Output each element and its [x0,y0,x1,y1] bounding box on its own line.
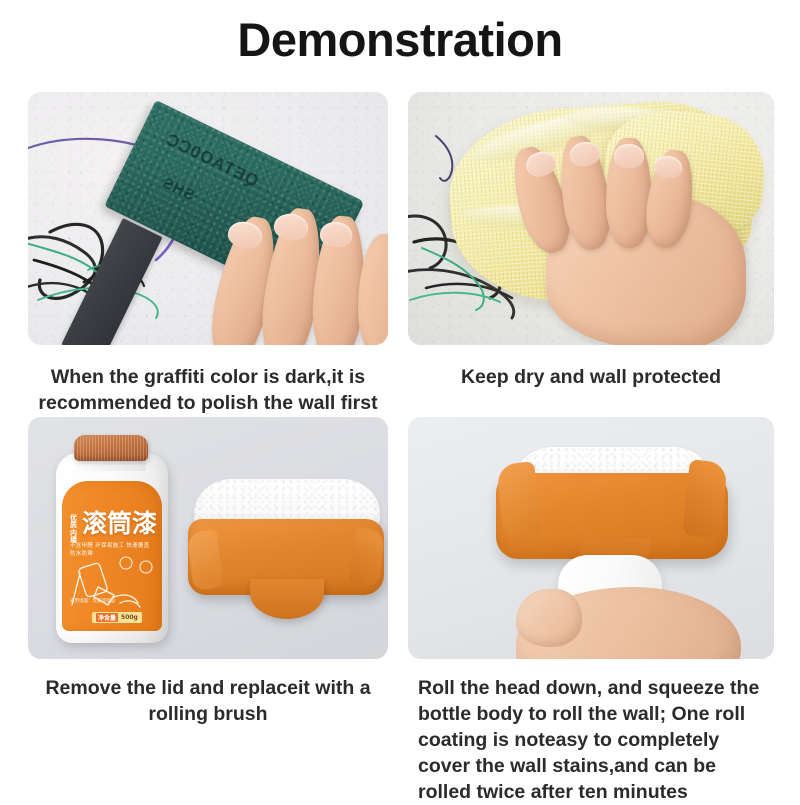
roller-brush-head [188,479,384,639]
caption-keep-dry: Keep dry and wall protected [408,365,774,391]
photo-polish-wall: QETAO0CC SHS [28,92,388,345]
demonstration-page: Demonstration [0,0,800,800]
thumb [516,589,582,647]
photo-roll-wall [408,417,774,659]
net-weight-value: 500g [121,614,138,621]
label-corner-tag: 优质 内墙 [67,515,80,544]
demo-step-keep-dry: Keep dry and wall protected [408,92,774,417]
label-product-name: 滚筒漆 [82,511,157,536]
label-fine-print: 适用墙面：乳胶漆墙面 [70,598,154,605]
net-weight-badge: 净含量 500g [92,612,142,623]
net-weight-label: 净含量 [96,613,118,622]
roller-arm-left [187,529,224,590]
roller-arm-right [682,459,728,539]
roller-connector-stem [250,579,324,619]
caption-replace-lid: Remove the lid and replaceit with a roll… [28,676,388,728]
bottle-cap [74,435,148,461]
hand-wiping-wall [504,122,774,345]
roller-arm-right [349,527,386,586]
page-title: Demonstration [0,14,800,66]
hand-holding-block [212,164,388,345]
paint-bottle: 优质 内墙 滚筒漆 不含甲醛 环保易施工 快速覆盖 防水防霉 [56,435,168,643]
cap-texture [74,435,148,461]
label-roller-illustration-icon [68,553,158,615]
demo-step-replace-lid: 优质 内墙 滚筒漆 不含甲醛 环保易施工 快速覆盖 防水防霉 [28,417,388,805]
photo-replace-lid: 优质 内墙 滚筒漆 不含甲醛 环保易施工 快速覆盖 防水防霉 [28,417,388,659]
little-finger [358,234,388,345]
fingernail [614,144,644,168]
caption-polish-wall: When the graffiti color is dark,it is re… [28,365,388,417]
demo-step-roll-wall: Roll the head down, and squeeze the bott… [408,417,774,805]
demo-step-polish-wall: QETAO0CC SHS When the graffiti color is … [28,92,388,417]
bottle-label: 优质 内墙 滚筒漆 不含甲醛 环保易施工 快速覆盖 防水防霉 [62,481,162,631]
photo-keep-dry [408,92,774,345]
demo-steps-grid: QETAO0CC SHS When the graffiti color is … [28,92,774,805]
caption-roll-wall: Roll the head down, and squeeze the bott… [408,676,774,805]
roller-arm-left [496,461,542,539]
hand-squeezing-bottle [516,567,746,659]
